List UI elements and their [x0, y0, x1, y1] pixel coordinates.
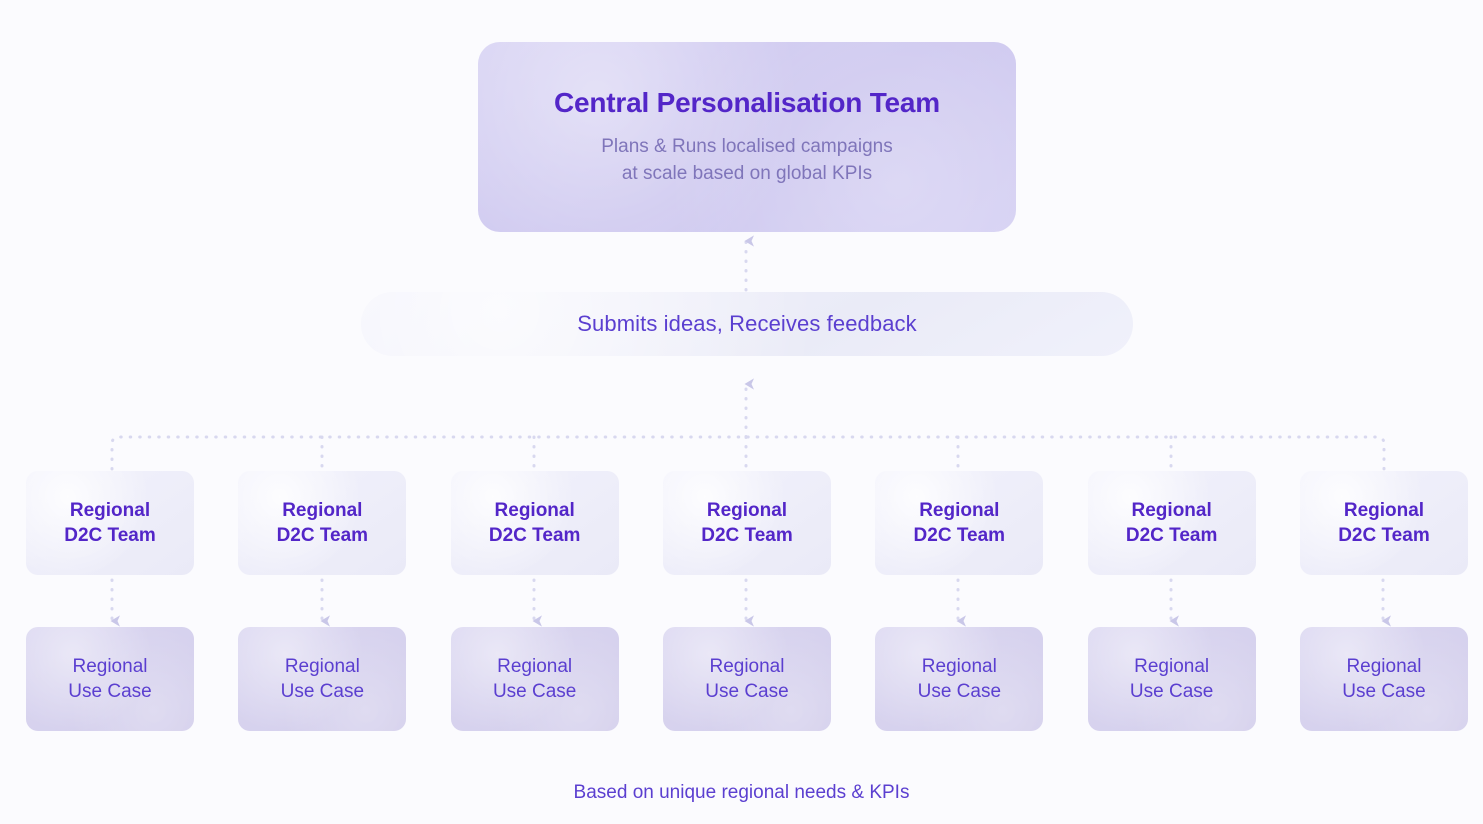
regional-use-case-box[interactable]: Regional Use Case: [451, 627, 619, 731]
regional-d2c-team-line-1: Regional: [1126, 498, 1218, 523]
regional-use-case-line-2: Use Case: [918, 679, 1001, 704]
regional-column: Regional D2C Team Regional Use Case: [1088, 471, 1256, 731]
regional-column: Regional D2C Team Regional Use Case: [451, 471, 619, 731]
column-connector-gap: [26, 575, 194, 627]
column-connector-gap: [1088, 575, 1256, 627]
regional-use-case-line-1: Regional: [705, 654, 788, 679]
regional-column: Regional D2C Team Regional Use Case: [663, 471, 831, 731]
regional-d2c-team-line-1: Regional: [1338, 498, 1430, 523]
regional-d2c-team-line-2: D2C Team: [1126, 523, 1218, 548]
regional-d2c-team-line-2: D2C Team: [1338, 523, 1430, 548]
regional-use-case-box[interactable]: Regional Use Case: [26, 627, 194, 731]
column-connector-gap: [451, 575, 619, 627]
regional-use-case-label: Regional Use Case: [68, 654, 151, 705]
pill-label: Submits ideas, Receives feedback: [577, 311, 916, 337]
regional-d2c-team-line-2: D2C Team: [914, 523, 1006, 548]
regional-use-case-line-2: Use Case: [68, 679, 151, 704]
regional-d2c-team-box[interactable]: Regional D2C Team: [1088, 471, 1256, 575]
regional-d2c-team-label: Regional D2C Team: [277, 498, 369, 549]
regional-d2c-team-box[interactable]: Regional D2C Team: [663, 471, 831, 575]
regional-use-case-label: Regional Use Case: [705, 654, 788, 705]
regional-d2c-team-line-2: D2C Team: [701, 523, 793, 548]
regional-d2c-team-box[interactable]: Regional D2C Team: [26, 471, 194, 575]
submits-ideas-receives-feedback-pill[interactable]: Submits ideas, Receives feedback: [361, 292, 1133, 356]
regional-use-case-line-1: Regional: [493, 654, 576, 679]
regional-d2c-team-label: Regional D2C Team: [1126, 498, 1218, 549]
regional-use-case-line-1: Regional: [281, 654, 364, 679]
regional-use-case-label: Regional Use Case: [281, 654, 364, 705]
regional-use-case-line-2: Use Case: [281, 679, 364, 704]
regional-d2c-team-label: Regional D2C Team: [64, 498, 156, 549]
regional-d2c-team-box[interactable]: Regional D2C Team: [238, 471, 406, 575]
regional-columns: Regional D2C Team Regional Use Case Regi…: [26, 471, 1468, 731]
regional-d2c-team-label: Regional D2C Team: [914, 498, 1006, 549]
regional-use-case-line-1: Regional: [1342, 654, 1425, 679]
regional-d2c-team-label: Regional D2C Team: [489, 498, 581, 549]
regional-d2c-team-box[interactable]: Regional D2C Team: [875, 471, 1043, 575]
column-connector-gap: [875, 575, 1043, 627]
regional-use-case-line-1: Regional: [1130, 654, 1213, 679]
regional-d2c-team-box[interactable]: Regional D2C Team: [1300, 471, 1468, 575]
regional-use-case-line-2: Use Case: [705, 679, 788, 704]
diagram-footnote: Based on unique regional needs & KPIs: [0, 782, 1483, 804]
regional-use-case-line-2: Use Case: [1130, 679, 1213, 704]
regional-use-case-box[interactable]: Regional Use Case: [875, 627, 1043, 731]
regional-d2c-team-line-1: Regional: [914, 498, 1006, 523]
regional-use-case-box[interactable]: Regional Use Case: [1300, 627, 1468, 731]
central-team-subtitle-line-1: Plans & Runs localised campaigns: [601, 134, 893, 161]
regional-d2c-team-line-1: Regional: [277, 498, 369, 523]
regional-use-case-label: Regional Use Case: [1342, 654, 1425, 705]
regional-use-case-line-2: Use Case: [493, 679, 576, 704]
regional-use-case-box[interactable]: Regional Use Case: [1088, 627, 1256, 731]
regional-d2c-team-label: Regional D2C Team: [701, 498, 793, 549]
regional-use-case-line-2: Use Case: [1342, 679, 1425, 704]
diagram-canvas: Central Personalisation Team Plans & Run…: [0, 0, 1483, 824]
central-team-title: Central Personalisation Team: [554, 86, 940, 120]
central-personalisation-team-card[interactable]: Central Personalisation Team Plans & Run…: [478, 42, 1016, 232]
connector-distribution-bus: [112, 437, 1384, 469]
column-connector-gap: [663, 575, 831, 627]
regional-d2c-team-line-2: D2C Team: [489, 523, 581, 548]
regional-use-case-label: Regional Use Case: [1130, 654, 1213, 705]
regional-column: Regional D2C Team Regional Use Case: [1300, 471, 1468, 731]
connector-bus-drops: [322, 437, 1171, 469]
regional-d2c-team-line-2: D2C Team: [64, 523, 156, 548]
column-connector-gap: [238, 575, 406, 627]
regional-d2c-team-line-1: Regional: [489, 498, 581, 523]
regional-use-case-box[interactable]: Regional Use Case: [238, 627, 406, 731]
regional-column: Regional D2C Team Regional Use Case: [238, 471, 406, 731]
regional-d2c-team-line-2: D2C Team: [277, 523, 369, 548]
regional-use-case-label: Regional Use Case: [918, 654, 1001, 705]
regional-d2c-team-label: Regional D2C Team: [1338, 498, 1430, 549]
regional-use-case-label: Regional Use Case: [493, 654, 576, 705]
regional-column: Regional D2C Team Regional Use Case: [875, 471, 1043, 731]
regional-d2c-team-box[interactable]: Regional D2C Team: [451, 471, 619, 575]
column-connector-gap: [1300, 575, 1468, 627]
regional-use-case-line-1: Regional: [918, 654, 1001, 679]
regional-column: Regional D2C Team Regional Use Case: [26, 471, 194, 731]
central-team-subtitle-line-2: at scale based on global KPIs: [601, 161, 893, 188]
regional-d2c-team-line-1: Regional: [64, 498, 156, 523]
regional-use-case-box[interactable]: Regional Use Case: [663, 627, 831, 731]
regional-use-case-line-1: Regional: [68, 654, 151, 679]
regional-d2c-team-line-1: Regional: [701, 498, 793, 523]
central-team-subtitle: Plans & Runs localised campaigns at scal…: [601, 134, 893, 188]
